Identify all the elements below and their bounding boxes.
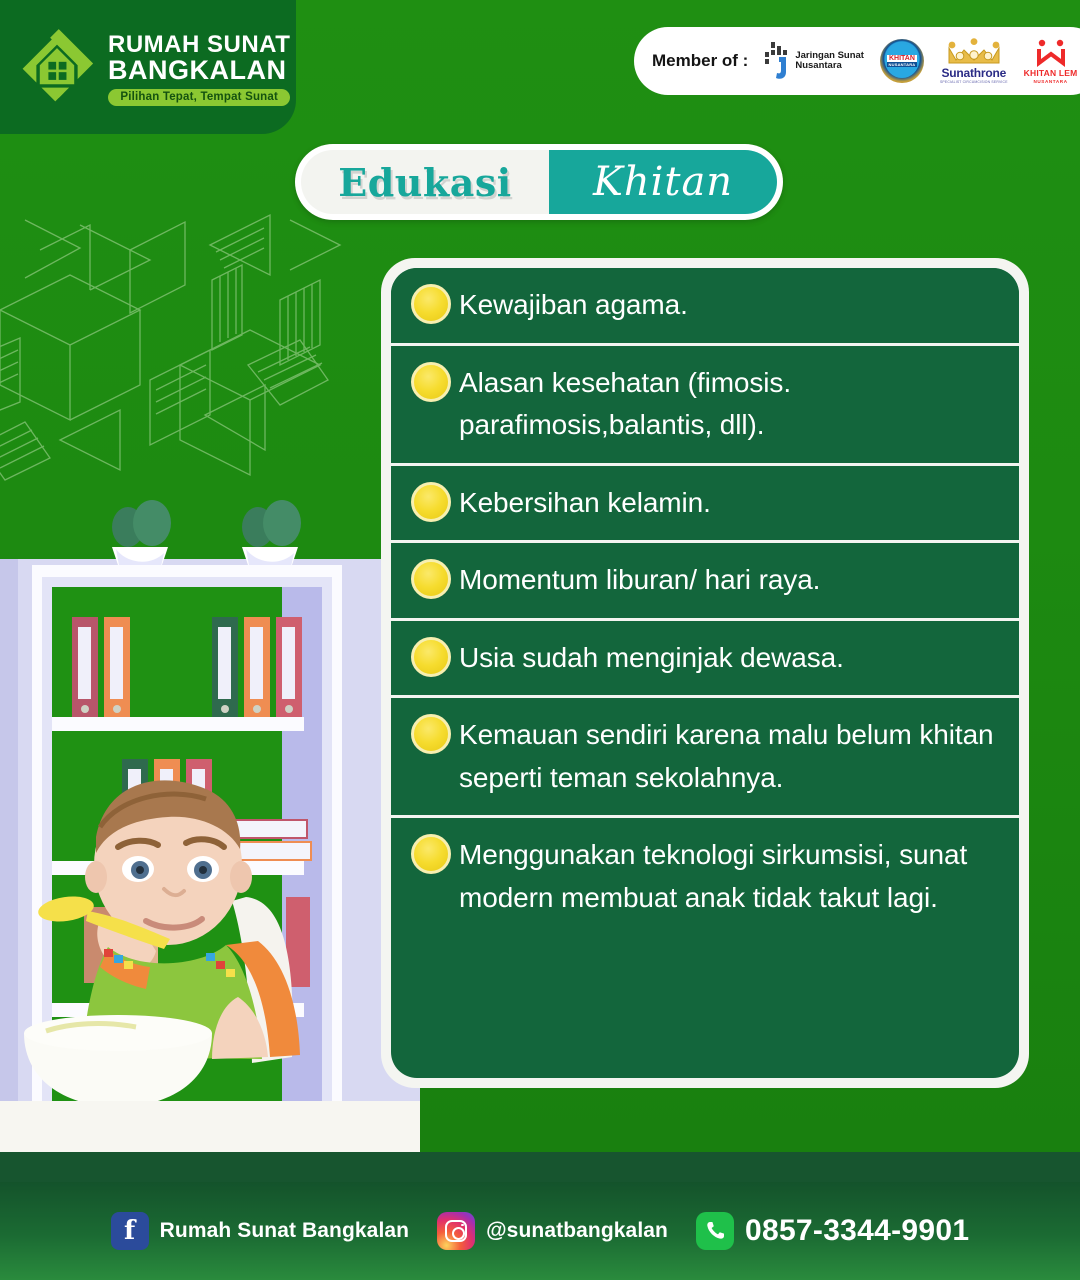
whatsapp-contact[interactable]: 0857-3344-9901 xyxy=(696,1212,969,1250)
list-item: Kebersihan kelamin. xyxy=(391,466,1019,544)
list-item: Alasan kesehatan (fimosis. parafimosis,b… xyxy=(391,346,1019,466)
khitan-nusantara-inner: KHITAN NUSANTARA xyxy=(885,44,919,78)
brand-tagline: Pilihan Tepat, Tempat Sunat xyxy=(108,89,290,106)
partner-name: Jaringan Sunat Nusantara xyxy=(795,51,864,71)
cactus-plant-right xyxy=(242,500,301,571)
brand-text: RUMAH SUNAT BANGKALAN Pilihan Tepat, Tem… xyxy=(108,29,290,106)
house-shield-logo-icon xyxy=(14,22,100,112)
bookshelf-with-baby-illustration xyxy=(0,497,420,1152)
yellow-circle-bullet-icon xyxy=(411,834,451,874)
list-item-label: Alasan kesehatan (fimosis. parafimosis,b… xyxy=(459,360,1005,447)
contact-footer: f Rumah Sunat Bangkalan @sunatbangkalan … xyxy=(0,1182,1080,1280)
yellow-circle-bullet-icon xyxy=(411,637,451,677)
jaringan-sunat-nusantara-logo-icon xyxy=(762,40,792,82)
khitan-nusantara-badge-icon: KHITAN NUSANTARA xyxy=(880,39,924,83)
list-item-label: Kewajiban agama. xyxy=(459,282,688,327)
partner-name-line2: NUSANTARA xyxy=(1033,79,1067,84)
partner-name-line2: Nusantara xyxy=(795,61,864,71)
instagram-label: @sunatbangkalan xyxy=(486,1219,668,1243)
yellow-circle-bullet-icon xyxy=(411,714,451,754)
facebook-label: Rumah Sunat Bangkalan xyxy=(160,1219,409,1243)
background-bottom-band xyxy=(0,1152,1080,1182)
instagram-icon[interactable] xyxy=(437,1212,475,1250)
whatsapp-phone-label: 0857-3344-9901 xyxy=(745,1214,969,1248)
partner-name-line1: KHITAN LEM xyxy=(1024,68,1078,78)
education-points-list: Kewajiban agama. Alasan kesehatan (fimos… xyxy=(391,268,1019,1078)
yellow-circle-bullet-icon xyxy=(411,559,451,599)
title-edukasi: Edukasi xyxy=(338,160,511,205)
partner-sunathrone: Sunathrone SPECIALIST CIRCUMCISION SERVI… xyxy=(940,38,1008,84)
list-item: Momentum liburan/ hari raya. xyxy=(391,543,1019,621)
list-item-label: Menggunakan teknologi sirkumsisi, sunat … xyxy=(459,832,1005,919)
partner-name-line1: KHITAN xyxy=(887,55,917,63)
title-left-half: Edukasi xyxy=(301,150,549,214)
title-right-half: Khitan xyxy=(549,150,777,214)
whatsapp-phone-icon[interactable] xyxy=(696,1212,734,1250)
khitan-lem-logo-icon xyxy=(1034,39,1068,67)
list-item: Kemauan sendiri karena malu belum khitan… xyxy=(391,698,1019,818)
partner-name-line1: Sunathrone xyxy=(941,66,1006,80)
member-of-label: Member of : xyxy=(652,51,748,71)
partner-jaringan-sunat-nusantara: Jaringan Sunat Nusantara xyxy=(762,40,864,82)
list-item: Usia sudah menginjak dewasa. xyxy=(391,621,1019,699)
member-of-bar: Member of : Jaringan Sunat Nusantara KHI… xyxy=(634,27,1080,95)
partner-name-line2: SPECIALIST CIRCUMCISION SERVICE xyxy=(940,80,1008,84)
title-banner: Edukasi Khitan xyxy=(295,144,783,220)
facebook-contact[interactable]: f Rumah Sunat Bangkalan xyxy=(111,1212,409,1250)
yellow-circle-bullet-icon xyxy=(411,482,451,522)
education-points-card: Kewajiban agama. Alasan kesehatan (fimos… xyxy=(381,258,1029,1088)
brand-line-2: BANGKALAN xyxy=(108,57,290,84)
partner-logo-list: Jaringan Sunat Nusantara KHITAN NUSANTAR… xyxy=(762,38,1077,84)
list-item: Menggunakan teknologi sirkumsisi, sunat … xyxy=(391,818,1019,935)
instagram-contact[interactable]: @sunatbangkalan xyxy=(437,1212,668,1250)
partner-khitan-lem: KHITAN LEM NUSANTARA xyxy=(1024,39,1078,84)
list-item-label: Kemauan sendiri karena malu belum khitan… xyxy=(459,712,1005,799)
brand-line-1: RUMAH SUNAT xyxy=(108,33,290,57)
sunathrone-crown-icon xyxy=(942,38,1006,66)
list-item: Kewajiban agama. xyxy=(391,268,1019,346)
yellow-circle-bullet-icon xyxy=(411,362,451,402)
facebook-icon[interactable]: f xyxy=(111,1212,149,1250)
brand-logo-panel: RUMAH SUNAT BANGKALAN Pilihan Tepat, Tem… xyxy=(0,0,296,134)
list-item-label: Kebersihan kelamin. xyxy=(459,480,711,525)
yellow-circle-bullet-icon xyxy=(411,284,451,324)
title-khitan: Khitan xyxy=(593,159,733,205)
list-item-label: Momentum liburan/ hari raya. xyxy=(459,557,820,602)
partner-name-line2: NUSANTARA xyxy=(887,62,918,67)
cactus-plant-left xyxy=(112,500,171,571)
list-item-label: Usia sudah menginjak dewasa. xyxy=(459,635,844,680)
